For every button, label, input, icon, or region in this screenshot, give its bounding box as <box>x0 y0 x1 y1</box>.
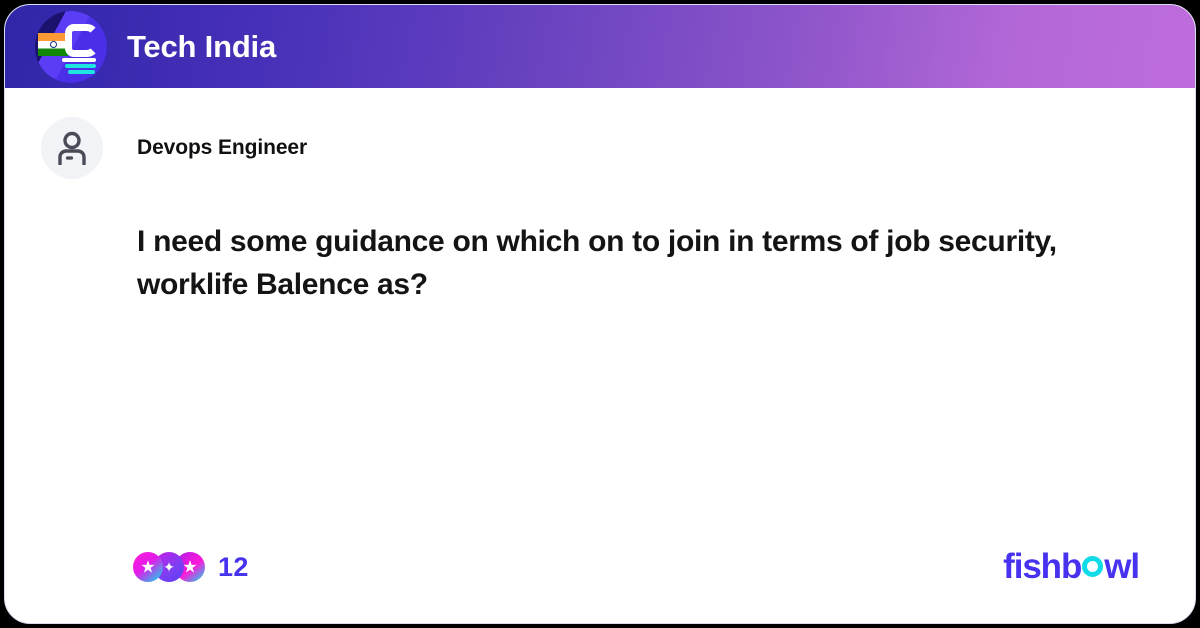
post-body: Devops Engineer I need some guidance on … <box>5 88 1195 623</box>
logo-bar-white <box>62 58 96 62</box>
reactions-group[interactable]: ★ ✦ ★ 12 <box>133 552 249 583</box>
india-flag-icon <box>38 33 68 56</box>
fishbowl-wordmark: fishb wl <box>1003 547 1139 587</box>
reaction-count: 12 <box>218 552 249 583</box>
reaction-badge-stack[interactable]: ★ ✦ ★ <box>133 552 196 582</box>
post-text: I need some guidance on which on to join… <box>137 220 1139 306</box>
fishbowl-o-ring-icon <box>1082 556 1103 577</box>
star-glyph-2: ★ <box>182 559 197 576</box>
logo-bar-cyan-1 <box>65 64 96 68</box>
bowl-title: Tech India <box>127 29 276 65</box>
star-reaction-icon[interactable]: ★ <box>133 552 163 582</box>
tech-india-bowl-logo-icon <box>35 11 107 83</box>
author-row: Devops Engineer <box>41 117 1139 179</box>
logo-c-glyph <box>65 24 99 57</box>
author-title: Devops Engineer <box>137 136 307 160</box>
anonymous-person-icon <box>56 131 88 165</box>
avatar <box>41 117 103 179</box>
ashoka-chakra-icon <box>50 41 57 48</box>
post-share-card: Tech India Devops Engineer I need some g… <box>4 4 1196 624</box>
lightbulb-glyph: ✦ <box>163 560 175 574</box>
logo-bar-cyan-2 <box>68 70 95 74</box>
star-glyph: ★ <box>140 559 155 576</box>
fishbowl-text-before: fishb <box>1003 547 1081 587</box>
bowl-header: Tech India <box>5 5 1195 88</box>
post-footer: ★ ✦ ★ 12 fishb wl <box>5 545 1195 589</box>
fishbowl-text-after: wl <box>1104 547 1139 587</box>
